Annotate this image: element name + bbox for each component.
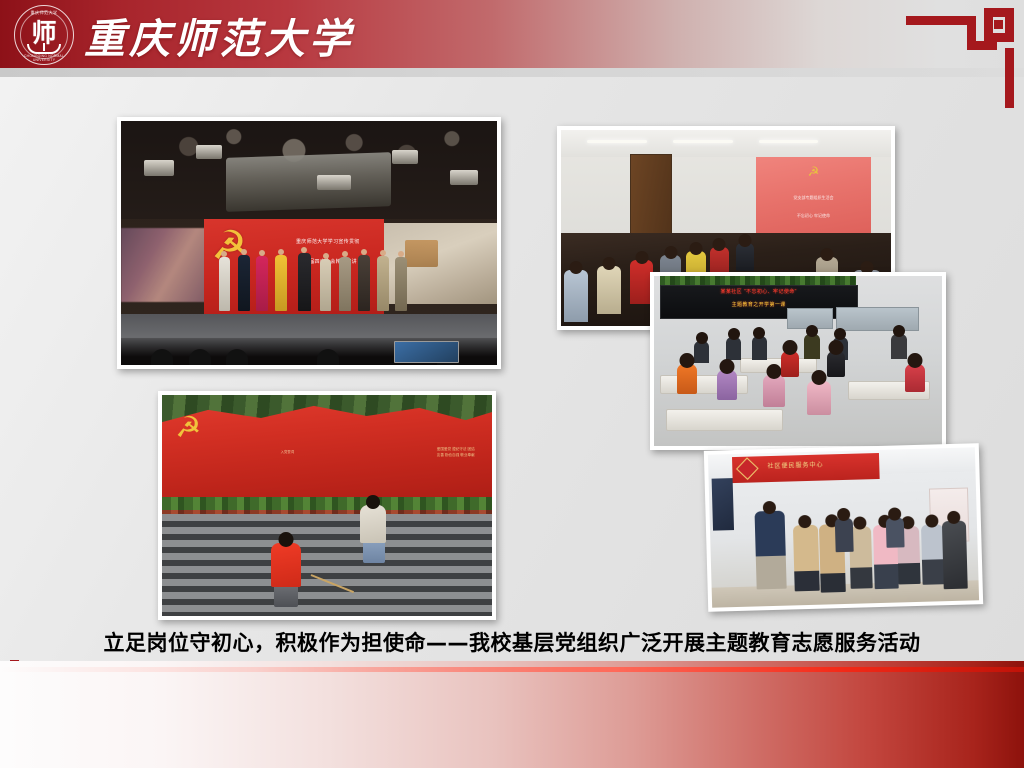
logo-center-glyph: 师 bbox=[31, 20, 56, 45]
logo-arc-top-text: 重庆师范大学 bbox=[14, 10, 74, 16]
projector-line2: 不忘初心 牢记使命 bbox=[765, 212, 862, 220]
monument-title-text: 入党誓词 bbox=[245, 450, 331, 456]
header-underline bbox=[0, 68, 1024, 77]
corner-ornament-top-right-icon bbox=[906, 8, 1014, 108]
presentation-slide: 重庆师范大学 师 CHONGQING NORMAL UNIVERSITY 重庆师… bbox=[0, 0, 1024, 768]
slide-footer-band bbox=[0, 661, 1024, 768]
community-classroom-photo[interactable]: 某某社区 "不忘初心、牢记使命" 主题教育之开学第一课 bbox=[650, 272, 946, 450]
monument-side-text: 爱国爱党 遵纪守法 团结友善 勤俭自强 敬业奉献 bbox=[436, 446, 476, 459]
logo-book-icon bbox=[27, 44, 61, 54]
party-emblem-icon: ☭ bbox=[808, 165, 820, 178]
led-banner-line1: 某某社区 "不忘初心、牢记使命" bbox=[669, 289, 849, 296]
party-emblem-icon: ☭ bbox=[175, 415, 205, 443]
projector-line1: 党支部专题组织生活会 bbox=[765, 194, 862, 202]
studio-banner-line1: 重庆师范大学学习宣传贯彻 bbox=[271, 238, 384, 247]
chinese-knot-icon bbox=[736, 457, 759, 480]
logo-arc-bottom-text: CHONGQING NORMAL UNIVERSITY bbox=[14, 54, 74, 62]
community-center-banner: 社区便民服务中心 bbox=[732, 453, 880, 483]
volunteer-group-photo[interactable]: 社区便民服务中心 bbox=[704, 443, 983, 612]
banner-text: 社区便民服务中心 bbox=[767, 460, 874, 471]
school-name-title: 重庆师范大学 bbox=[84, 2, 354, 68]
footer-accent-stripe bbox=[0, 667, 1024, 672]
university-logo-icon: 重庆师范大学 师 CHONGQING NORMAL UNIVERSITY bbox=[14, 5, 74, 65]
slide-caption: 立足岗位守初心，积极作为担使命——我校基层党组织广泛开展主题教育志愿服务活动 bbox=[0, 627, 1024, 657]
volunteer-sweeping-photo[interactable]: ☭ 入党誓词 爱国爱党 遵纪守法 团结友善 勤俭自强 敬业奉献 bbox=[158, 391, 496, 620]
tv-studio-lecture-photo[interactable]: ☭ 重庆师范大学学习宣传贯彻 十九届四中全会精神宣讲 bbox=[117, 117, 501, 369]
